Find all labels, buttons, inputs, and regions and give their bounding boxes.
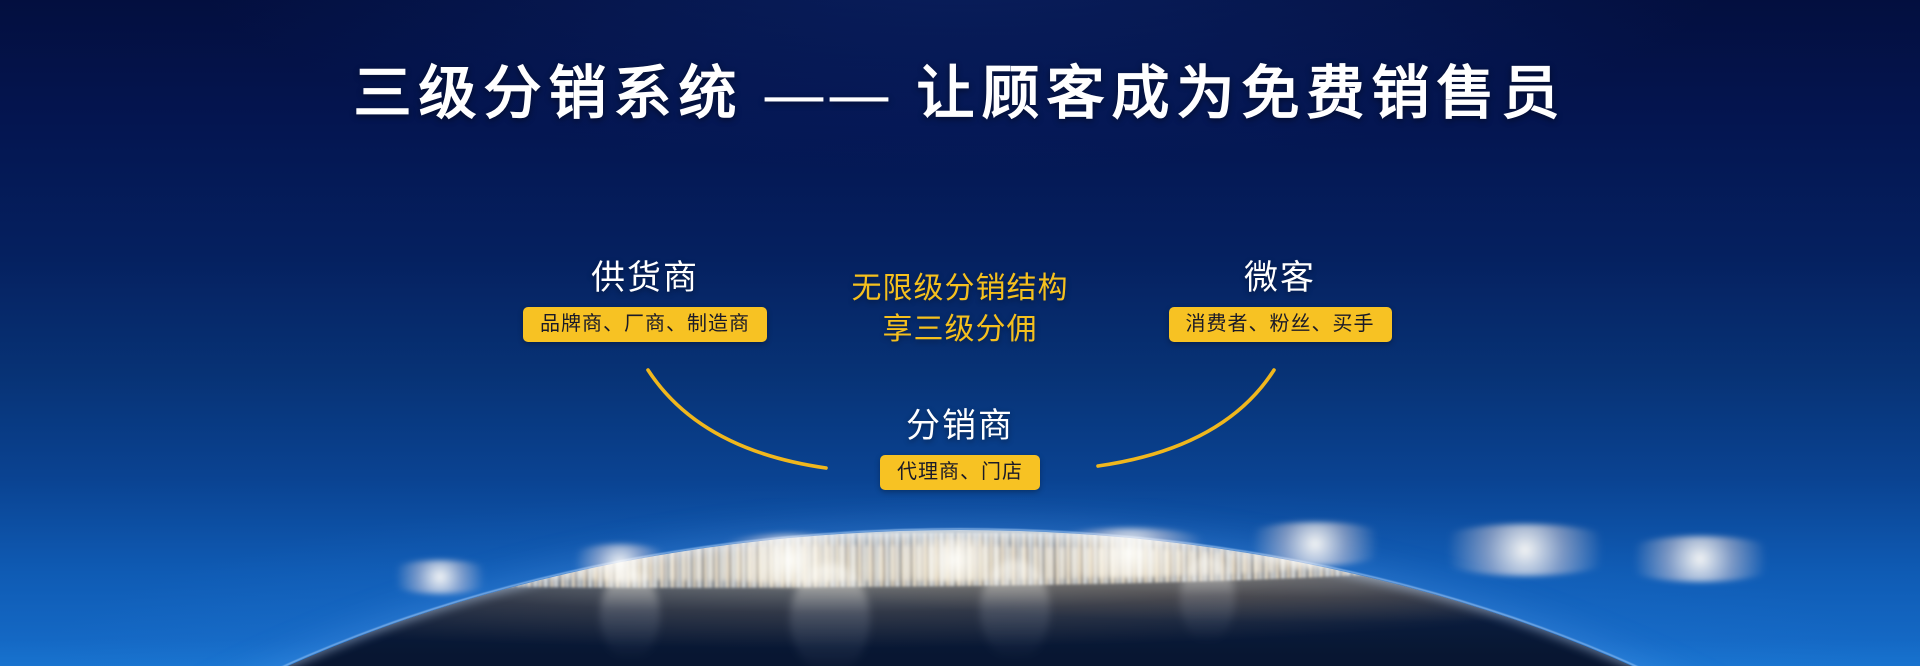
node-supplier[interactable]: 供货商 品牌商、厂商、制造商 xyxy=(465,258,825,342)
center-caption: 无限级分销结构 享三级分佣 xyxy=(780,268,1140,350)
node-supplier-badge: 品牌商、厂商、制造商 xyxy=(523,307,767,342)
node-distributor[interactable]: 分销商 代理商、门店 xyxy=(780,406,1140,490)
node-customer-badge: 消费者、粉丝、买手 xyxy=(1169,307,1392,342)
node-supplier-title: 供货商 xyxy=(465,258,825,298)
page-title: 三级分销系统 —— 让顾客成为免费销售员 xyxy=(0,46,1920,130)
city-glow xyxy=(1610,536,1790,582)
promo-banner: 三级分销系统 —— 让顾客成为免费销售员 供货商 品牌商、厂商、制造商 微客 消… xyxy=(0,0,1920,666)
sky-haze-top xyxy=(0,0,1920,300)
globe-scene xyxy=(0,498,1920,666)
node-customer-title: 微客 xyxy=(1100,258,1460,298)
node-distributor-badge: 代理商、门店 xyxy=(880,455,1040,490)
center-caption-line2: 享三级分佣 xyxy=(780,309,1140,350)
node-distributor-title: 分销商 xyxy=(780,406,1140,446)
node-customer[interactable]: 微客 消费者、粉丝、买手 xyxy=(1100,258,1460,342)
center-caption-line1: 无限级分销结构 xyxy=(780,268,1140,309)
